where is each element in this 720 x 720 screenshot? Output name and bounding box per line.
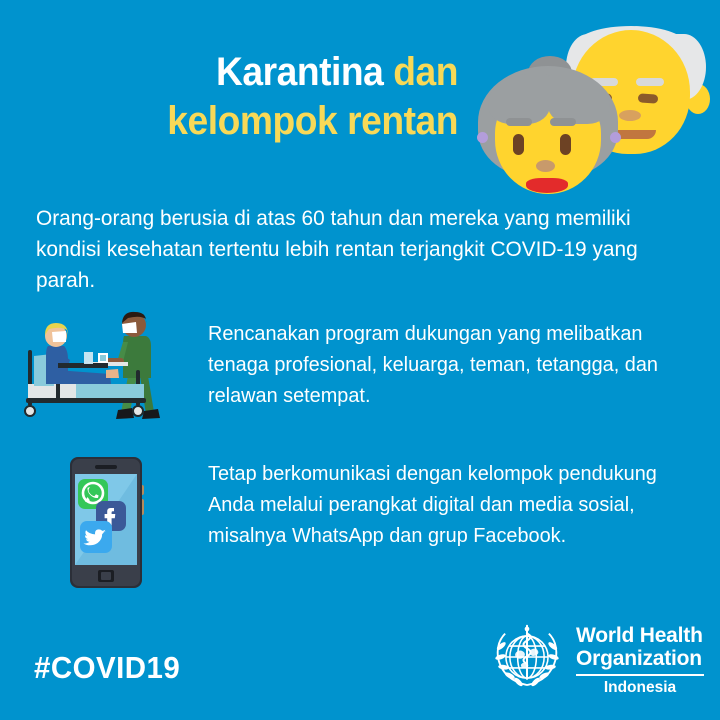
man-brow-right: [636, 78, 664, 86]
woman-lips: [526, 178, 568, 193]
woman-brow-right: [550, 118, 576, 126]
woman-brow-left: [506, 118, 532, 126]
woman-nose: [536, 160, 555, 172]
woman-earring-left: [477, 132, 488, 143]
intro-paragraph: Orang-orang berusia di atas 60 tahun dan…: [36, 203, 668, 296]
who-emblem-icon: [488, 618, 566, 696]
man-nose: [619, 110, 641, 121]
hashtag-covid19: #COVID19: [34, 650, 180, 686]
title-word-karantina: Karantina: [216, 50, 383, 94]
title-word-dan: dan: [393, 50, 458, 94]
stay-connected-text: Tetap berkomunikasi dengan kelompok pend…: [208, 458, 664, 551]
who-logo: World Health Organization Indonesia: [488, 618, 702, 702]
title-line-2: kelompok rentan: [32, 97, 458, 146]
smartphone-svg: [62, 455, 168, 590]
title-line-1: Karantina dan: [32, 48, 458, 97]
elderly-couple-emoji: [478, 22, 718, 194]
woman-eye-left: [513, 134, 524, 155]
support-program-text: Rencanakan program dukungan yang melibat…: [208, 318, 664, 411]
smartphone-illustration: [62, 455, 168, 590]
who-country: Indonesia: [576, 679, 704, 697]
who-line-2: Organization: [576, 647, 704, 670]
woman-earring-right: [610, 132, 621, 143]
who-wordmark: World Health Organization Indonesia: [576, 618, 704, 697]
woman-fringe-right: [548, 74, 610, 124]
woman-fringe-left: [488, 74, 550, 124]
infographic-poster: Karantina dan kelompok rentan: [0, 0, 720, 720]
twitter-icon: [80, 521, 112, 553]
man-eye-right: [638, 93, 659, 103]
hospital-bed-svg: [18, 308, 198, 430]
woman-eye-right: [560, 134, 571, 155]
who-line-1: World Health: [576, 624, 704, 647]
page-title: Karantina dan kelompok rentan: [0, 48, 470, 146]
who-divider: [576, 674, 704, 676]
hospital-bed-illustration: [18, 308, 198, 430]
older-woman-emoji: [478, 60, 620, 194]
